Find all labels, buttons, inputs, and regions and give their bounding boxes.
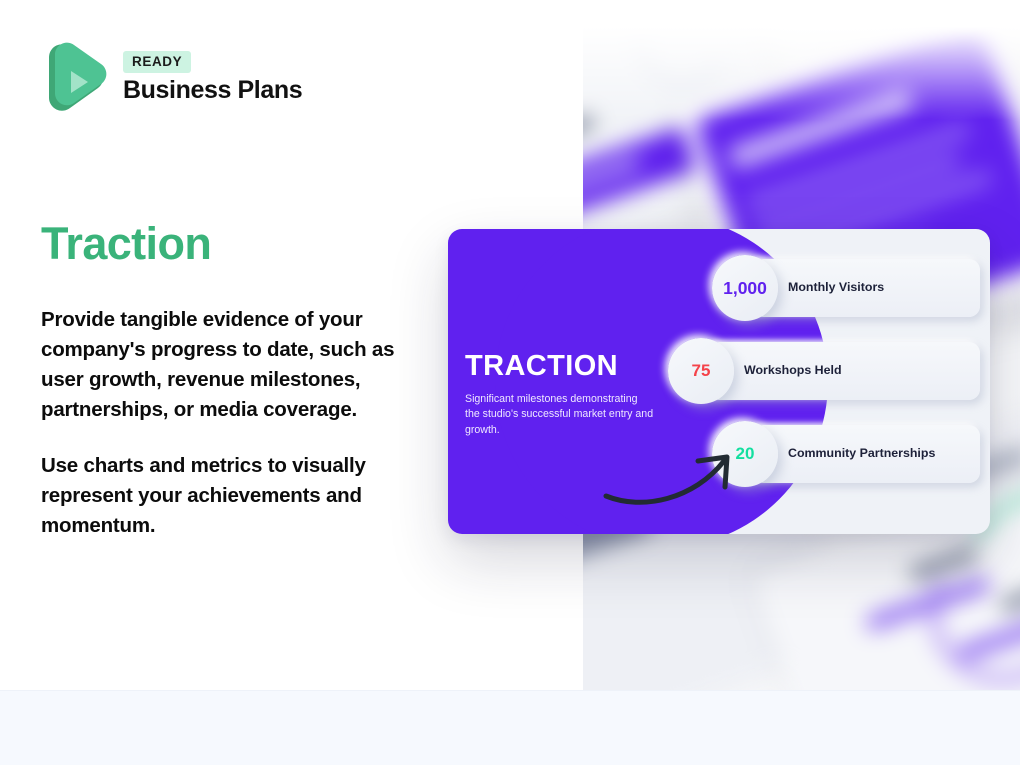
slide-preview-page: READY Business Plans Traction Provide ta…: [0, 0, 1020, 765]
stat-label: Monthly Visitors: [788, 255, 972, 321]
curved-growth-arrow-icon: [598, 399, 758, 519]
background-ring-shape: [621, 0, 743, 103]
body-paragraph-2: Use charts and metrics to visually repre…: [41, 451, 419, 541]
stat-label: Workshops Held: [744, 338, 972, 404]
card-heading: TRACTION: [465, 350, 618, 383]
play-triangle-logo-icon: [41, 41, 107, 115]
stat-value-circle: 75: [668, 338, 734, 404]
traction-slide-card[interactable]: TRACTION Significant milestones demonstr…: [448, 229, 990, 534]
page-body-copy: Provide tangible evidence of your compan…: [41, 305, 419, 540]
page-title: Traction: [41, 218, 211, 270]
stat-label: Community Partnerships: [788, 421, 972, 487]
footer-band: [0, 690, 1020, 765]
stat-value-circle: 1,000: [712, 255, 778, 321]
stat-row[interactable]: 1,000 Monthly Visitors: [712, 255, 990, 321]
brand-text-group: READY Business Plans: [123, 51, 302, 105]
ready-badge: READY: [123, 51, 191, 73]
body-paragraph-1: Provide tangible evidence of your compan…: [41, 305, 419, 425]
brand-title: Business Plans: [123, 76, 302, 105]
brand-lockup: READY Business Plans: [41, 41, 302, 115]
stat-row[interactable]: 75 Workshops Held: [668, 338, 990, 404]
